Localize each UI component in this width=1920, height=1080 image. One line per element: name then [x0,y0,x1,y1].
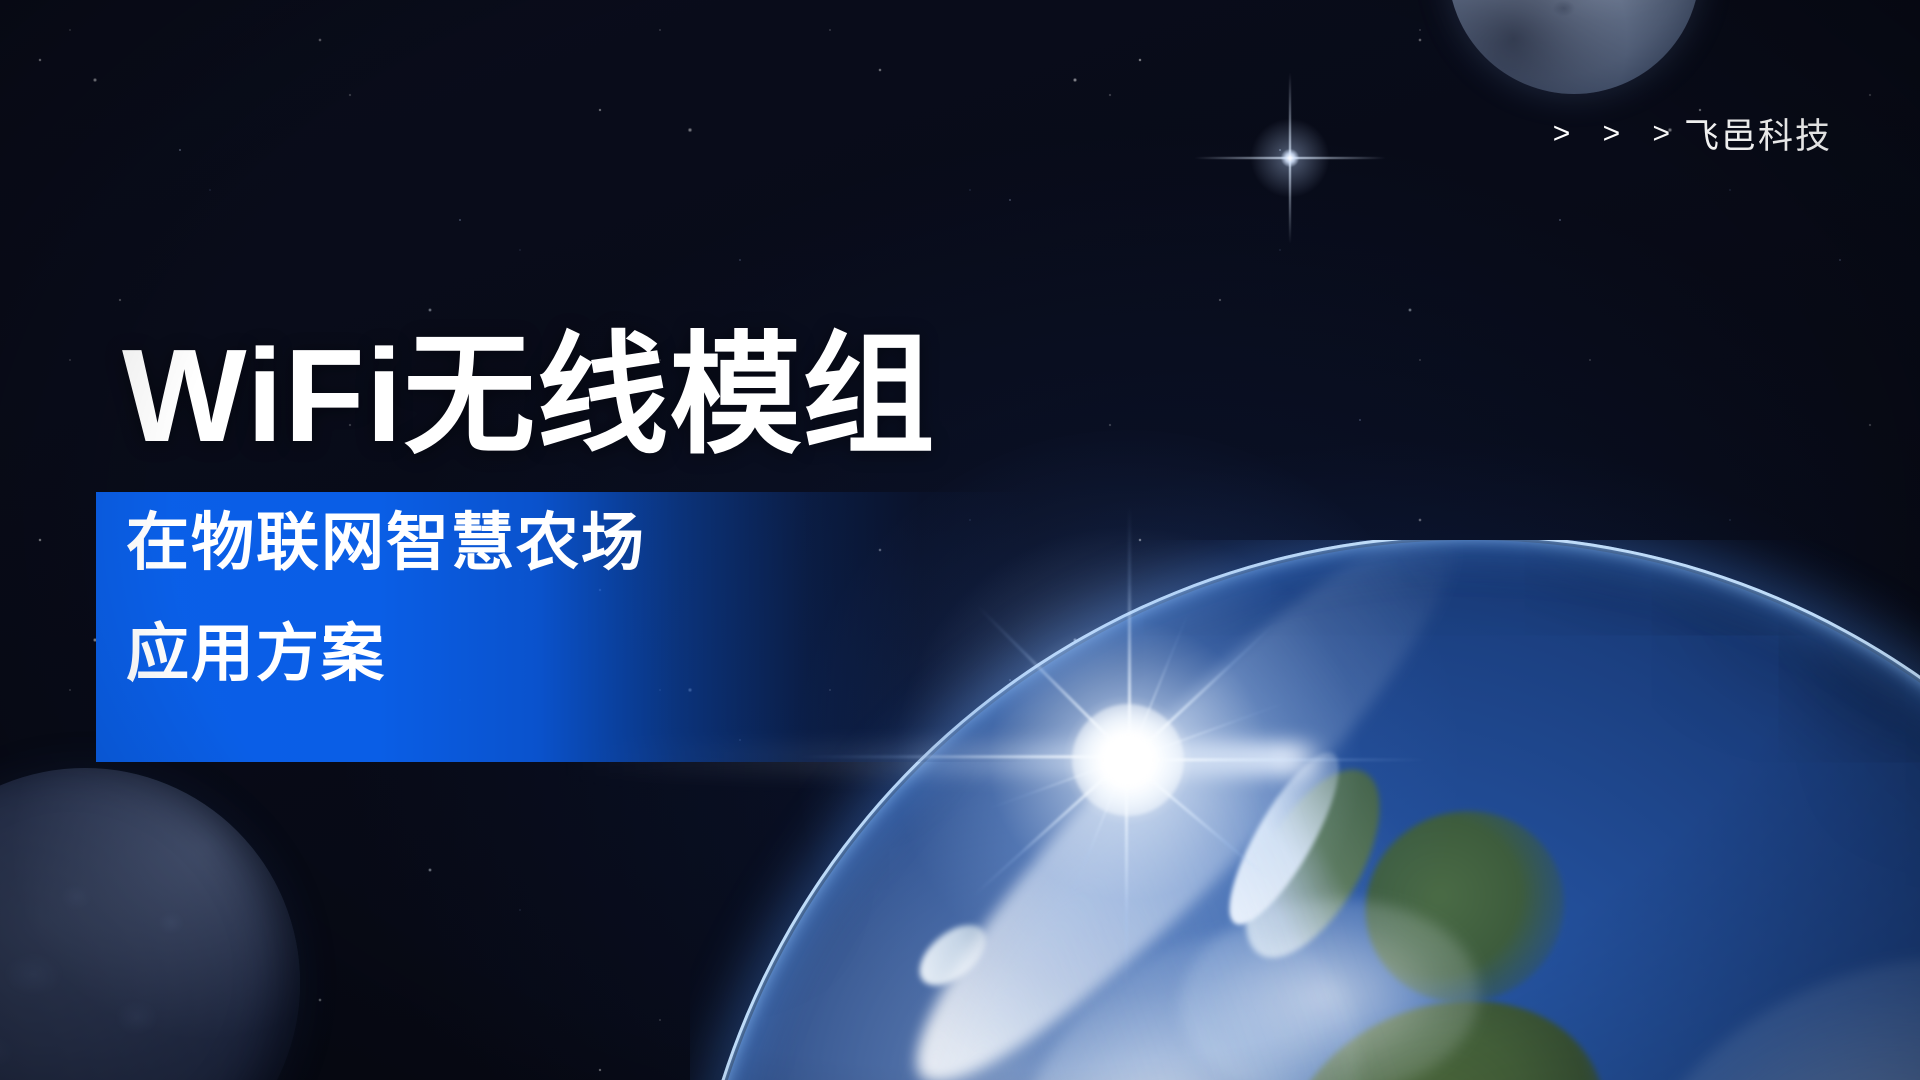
brand-logo: > > > 飞邑科技 [1553,108,1832,159]
chevron-right-icons: > > > [1553,117,1682,151]
subtitle-line-2: 应用方案 [126,623,1026,686]
page-title: WiFi无线模组 [122,330,935,462]
subtitle-line-1: 在物联网智慧农场 [126,512,1026,575]
subtitle-block: 在物联网智慧农场 应用方案 [126,512,1026,686]
brand-name: 飞邑科技 [1684,108,1832,159]
star-core [1281,149,1299,167]
flare-core [1072,704,1184,816]
poster-canvas: > > > 飞邑科技 WiFi无线模组 在物联网智慧农场 应用方案 [0,0,1920,1080]
